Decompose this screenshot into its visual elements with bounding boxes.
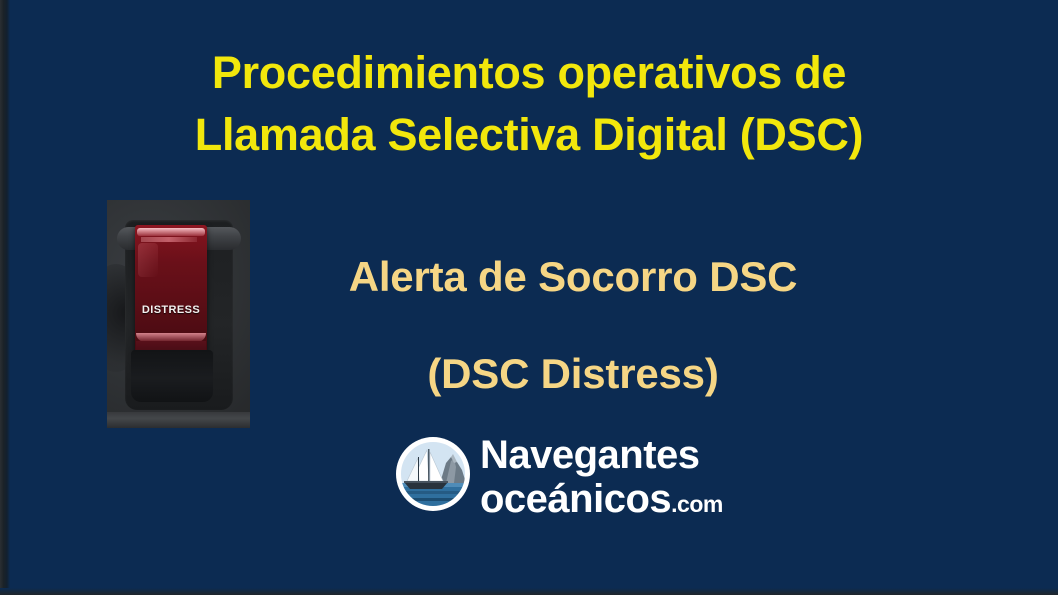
logo-line-navegantes: Navegantes	[480, 433, 736, 477]
subtitle-line-1: Alerta de Socorro DSC	[268, 228, 878, 325]
logo-tld-text: .com	[671, 491, 723, 517]
distress-label: DISTRESS	[135, 304, 207, 316]
guard-highlight-secondary	[141, 237, 197, 242]
guard-highlight-top	[137, 228, 205, 236]
sailboat-emblem-icon	[396, 437, 470, 511]
title-line-1: Procedimientos operativos de	[0, 42, 1058, 104]
logo-line-oceanicos: oceánicos.com	[480, 477, 736, 526]
logo-oceanicos-text: oceánicos	[480, 477, 671, 521]
button-recess	[131, 350, 213, 402]
guard-sheen	[138, 243, 158, 277]
dsc-distress-button-photo: DISTRESS	[107, 200, 250, 428]
bottom-edge-strip	[0, 588, 1058, 595]
subtitle-line-2: (DSC Distress)	[268, 325, 878, 422]
page-subtitle: Alerta de Socorro DSC (DSC Distress)	[268, 228, 878, 422]
page-title: Procedimientos operativos de Llamada Sel…	[0, 42, 1058, 166]
slide-canvas: Procedimientos operativos de Llamada Sel…	[0, 0, 1058, 595]
title-line-2: Llamada Selectiva Digital (DSC)	[0, 104, 1058, 166]
site-logo[interactable]: Navegantes oceánicos.com	[396, 433, 736, 525]
logo-wordmark: Navegantes oceánicos.com	[480, 433, 736, 526]
distress-button-guard: DISTRESS	[135, 225, 207, 370]
panel-lower-edge	[107, 412, 250, 428]
